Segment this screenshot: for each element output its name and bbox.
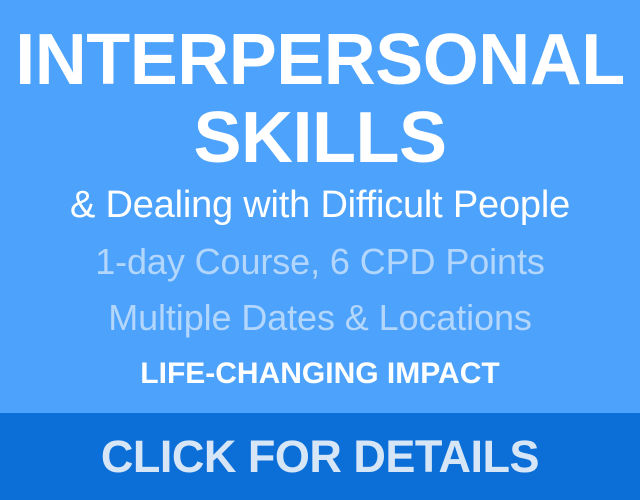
banner-subtitle: & Dealing with Difficult People: [0, 183, 640, 227]
advertisement-banner[interactable]: INTERPERSONAL SKILLS & Dealing with Diff…: [0, 0, 640, 500]
headline-line-1: INTERPERSONAL: [0, 22, 640, 98]
cta-button[interactable]: CLICK FOR DETAILS: [0, 413, 640, 500]
cta-button-label: CLICK FOR DETAILS: [101, 432, 539, 482]
banner-content: INTERPERSONAL SKILLS & Dealing with Diff…: [0, 0, 640, 413]
headline-line-2: SKILLS: [0, 100, 640, 176]
course-detail-duration: 1-day Course, 6 CPD Points: [0, 241, 640, 283]
course-detail-dates: Multiple Dates & Locations: [0, 297, 640, 339]
impact-statement: LIFE-CHANGING IMPACT: [0, 356, 640, 392]
